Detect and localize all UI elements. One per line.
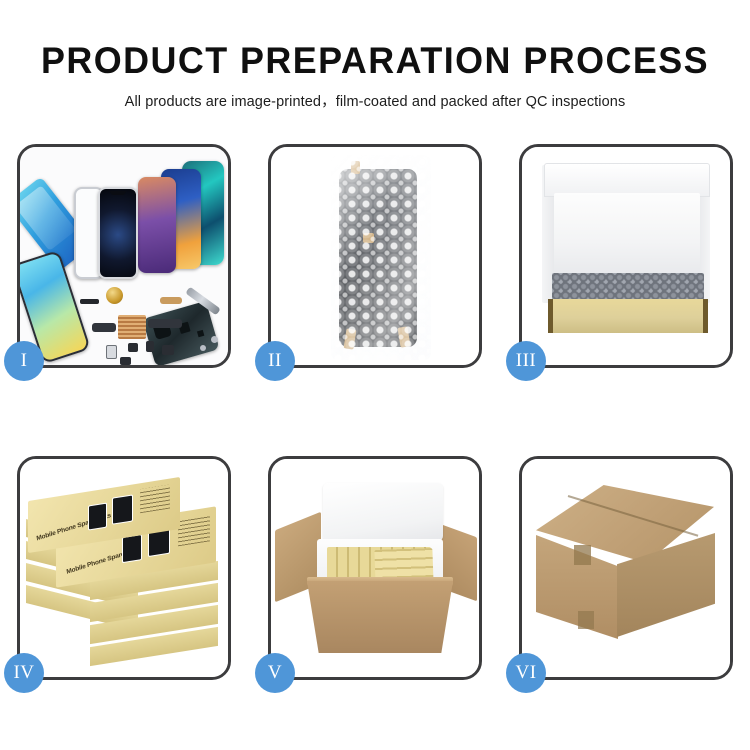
- open-box-scene: [522, 147, 730, 365]
- step-numeral-badge: I: [4, 341, 44, 381]
- step-numeral-badge: III: [506, 341, 546, 381]
- plastic-sheen-overlay: [331, 155, 431, 360]
- page-header: PRODUCT PREPARATION PROCESS All products…: [0, 0, 750, 111]
- process-step-3-image: [522, 147, 730, 365]
- page-subtitle: All products are image-printed，film-coat…: [0, 81, 750, 111]
- screw-icon: [211, 336, 218, 343]
- stacked-boxes-scene: Mobile Phone Spare Parts Mobile Phone Sp…: [20, 459, 228, 677]
- phone-black-screen-icon: [98, 187, 138, 279]
- flex-cable-part-icon: [148, 319, 182, 328]
- process-step-6[interactable]: VI: [519, 456, 733, 680]
- carton-foam-scene: [271, 459, 479, 677]
- box-phone-image-icon: [122, 534, 142, 563]
- step-numeral-badge: II: [255, 341, 295, 381]
- carton-front-panel-icon: [307, 581, 453, 653]
- bubble-padding-icon: [552, 273, 704, 301]
- process-step-grid: I II: [17, 144, 733, 690]
- phone-purple-icon: [138, 177, 176, 273]
- step-numeral-badge: IV: [4, 653, 44, 693]
- flex-cable-part-icon: [92, 323, 116, 332]
- phone-chassis-icon: [142, 301, 219, 365]
- carton-tape-icon: [578, 611, 594, 629]
- styrofoam-lid-icon: [323, 483, 443, 541]
- step-numeral-badge: VI: [506, 653, 546, 693]
- process-step-6-image: [522, 459, 730, 677]
- small-part-icon: [106, 345, 117, 359]
- process-step-5[interactable]: V: [268, 456, 482, 680]
- small-part-icon: [120, 357, 131, 365]
- process-step-4[interactable]: Mobile Phone Spare Parts Mobile Phone Sp…: [17, 456, 231, 680]
- carton-tape-icon: [574, 545, 591, 565]
- process-step-1[interactable]: I: [17, 144, 231, 368]
- process-step-1-image: [20, 147, 228, 365]
- foam-sheet-icon: [554, 193, 700, 275]
- process-step-2-image: [271, 147, 479, 365]
- box-spec-lines-icon: [178, 515, 210, 546]
- small-part-icon: [162, 345, 174, 355]
- chip-grid-part-icon: [118, 315, 146, 339]
- bubble-wrap-scene: [271, 147, 479, 365]
- screw-icon: [200, 345, 206, 351]
- box-front-panel-icon: [548, 299, 708, 333]
- process-step-2[interactable]: II: [268, 144, 482, 368]
- sealed-carton-scene: [522, 459, 730, 677]
- box-phone-image-icon: [88, 503, 107, 531]
- phone-parts-scene: [20, 147, 228, 365]
- flex-cable-part-icon: [160, 297, 182, 304]
- process-step-5-image: [271, 459, 479, 677]
- box-lid-icon: [544, 163, 710, 197]
- speaker-part-icon: [106, 287, 123, 304]
- page-title: PRODUCT PREPARATION PROCESS: [11, 0, 739, 81]
- process-step-3[interactable]: III: [519, 144, 733, 368]
- bar-part-icon: [80, 299, 99, 304]
- box-phone-image-icon: [112, 494, 133, 524]
- process-step-4-image: Mobile Phone Spare Parts Mobile Phone Sp…: [20, 459, 228, 677]
- box-spec-lines-icon: [140, 485, 170, 514]
- step-numeral-badge: V: [255, 653, 295, 693]
- small-part-icon: [128, 343, 138, 352]
- small-part-icon: [146, 341, 154, 352]
